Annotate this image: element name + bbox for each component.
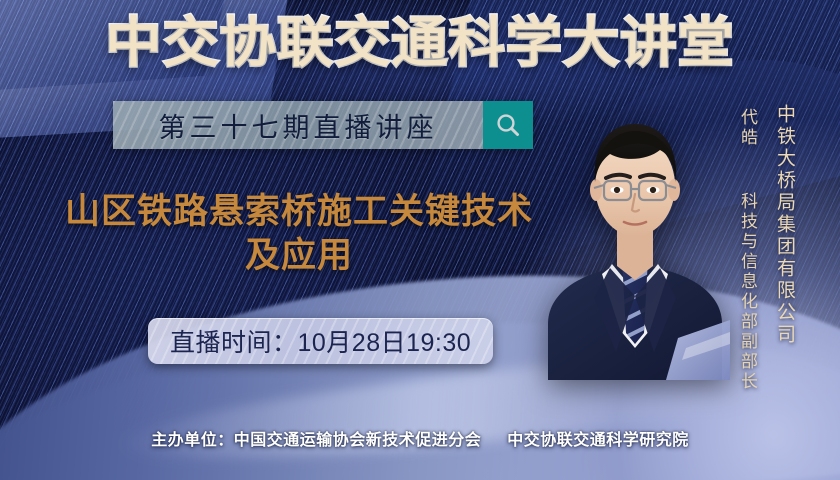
speaker-name-role: 代皓 科技与信息化部副部长 (735, 108, 760, 392)
footer-prefix: 主办单位： (151, 432, 234, 449)
footer-org-2: 中交协联交通科学研究院 (507, 432, 689, 449)
search-icon (495, 112, 521, 138)
lecture-title-line1: 山区铁路悬索桥施工关键技术 (65, 192, 533, 231)
broadcast-time-badge: 直播时间：10月28日19:30 (148, 318, 493, 364)
series-label: 第三十七期直播讲座 (159, 106, 438, 145)
lecture-title: 山区铁路悬索桥施工关键技术 及应用 (34, 190, 564, 278)
speaker-company: 中铁大桥局集团有限公司 (771, 104, 798, 346)
series-bar: 第三十七期直播讲座 (113, 101, 533, 149)
broadcast-time-text: 直播时间：10月28日19:30 (170, 323, 471, 359)
footer-organizers: 主办单位：中国交通运输协会新技术促进分会中交协联交通科学研究院 (0, 426, 840, 450)
series-label-box: 第三十七期直播讲座 (113, 101, 483, 149)
livestream-poster: 中交协联交通科学大讲堂 第三十七期直播讲座 山区铁路悬索桥施工关键技术 及应用 … (0, 0, 840, 480)
footer-org-1: 中国交通运输协会新技术促进分会 (234, 432, 482, 449)
page-title-text: 中交协联交通科学大讲堂 (105, 13, 734, 73)
page-title: 中交协联交通科学大讲堂 (0, 16, 840, 70)
lecture-title-line2: 及应用 (34, 234, 564, 278)
search-button[interactable] (483, 101, 533, 149)
